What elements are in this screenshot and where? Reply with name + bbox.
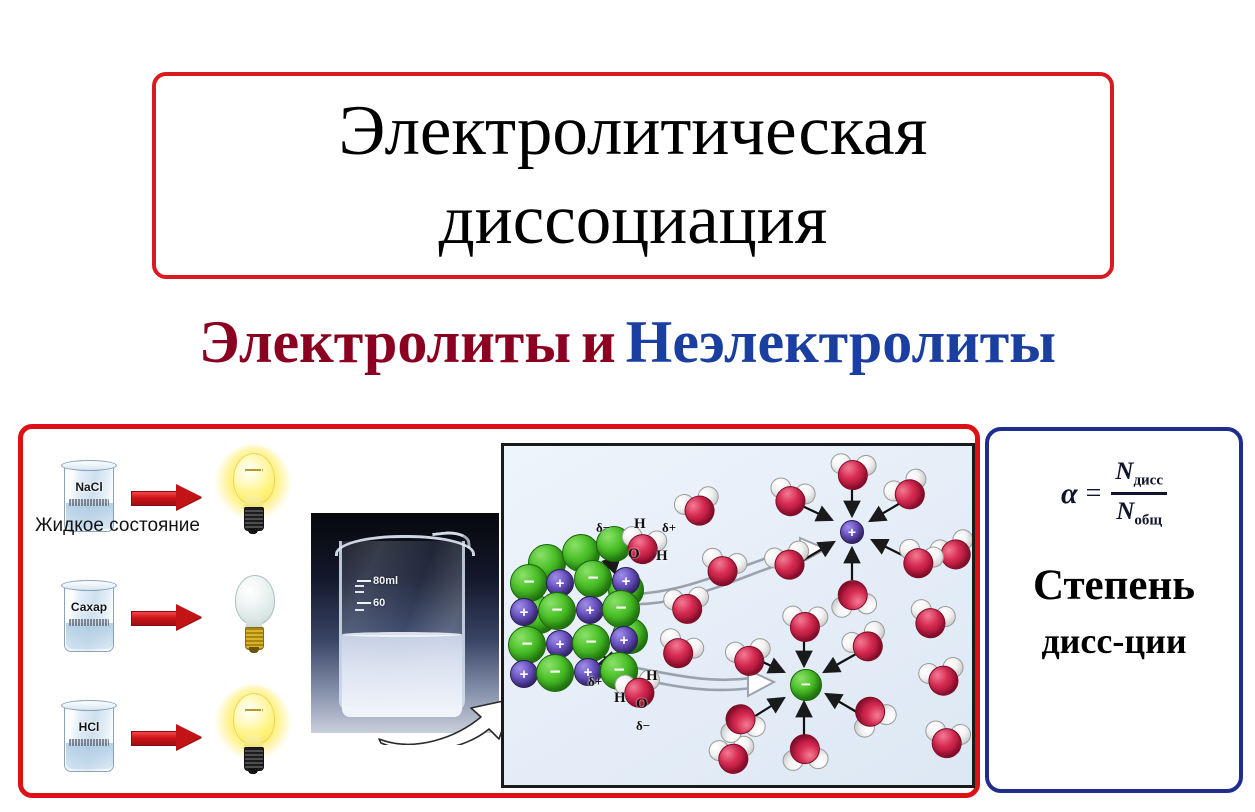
- beaker-rim: [61, 700, 117, 711]
- water-molecule-hydration-cation: [829, 453, 876, 494]
- degree-subtitle: дисс-ции: [1041, 623, 1186, 659]
- experiment-row-hcl: HCl: [61, 687, 311, 787]
- delta-plus-label-lower: δ+: [588, 674, 602, 690]
- lattice-ion-sodium: +: [576, 596, 604, 624]
- water-molecule-hydration-anion: [781, 605, 826, 645]
- red-arrow-icon: [131, 604, 203, 630]
- atom-label-o-lower: O: [636, 696, 648, 713]
- atom-label-h-lower: H: [646, 668, 658, 685]
- lattice-ion-chloride: −: [510, 564, 548, 602]
- lattice-ion-chloride: −: [508, 626, 546, 664]
- lattice-ion-chloride: −: [602, 590, 640, 628]
- page-title-line-2: диссоциация: [439, 185, 828, 256]
- delta-plus-label-upper: δ+: [662, 520, 676, 536]
- beaker-liquid: [66, 623, 113, 649]
- title-box: Электролитическая диссоциация: [152, 72, 1114, 279]
- formula-denominator-subscript: общ: [1134, 512, 1162, 528]
- lattice-ion-sodium: +: [510, 660, 538, 688]
- formula-equals-sign: =: [1086, 478, 1102, 510]
- bulb-tip: [249, 647, 259, 653]
- beaker-sublabel: [69, 619, 109, 626]
- beaker-label-sugar: Сахар: [61, 600, 117, 614]
- atom-label-h-upper-right: H: [656, 548, 668, 565]
- delta-minus-label-upper: δ−: [596, 520, 610, 536]
- graduation-tick: [355, 609, 364, 611]
- formula-denominator-variable: N: [1116, 498, 1134, 525]
- lattice-ion-chloride: −: [572, 624, 610, 662]
- beaker-label-nacl: NaCl: [61, 480, 117, 494]
- dissociation-diagram: − + − + + − + − − + − + + − + − H O H δ−…: [501, 443, 975, 788]
- lattice-ion-sodium: +: [610, 626, 638, 654]
- subtitle-electrolytes: Электролиты: [199, 309, 571, 375]
- light-bulb-unlit-sugar: [221, 569, 285, 665]
- water-molecule-hydration-cation: [830, 575, 879, 619]
- bulb-tip: [248, 528, 258, 534]
- beaker-sublabel: [69, 739, 109, 746]
- page-title-line-1: Электролитическая: [339, 96, 928, 167]
- beaker-label-hcl: HCl: [61, 720, 117, 734]
- bulb-tip: [248, 768, 258, 774]
- graduation-tick: [355, 585, 364, 587]
- beaker-hcl: HCl: [61, 698, 117, 776]
- formula-numerator: Nдисс: [1111, 457, 1167, 490]
- photo-beaker-spout: [432, 529, 471, 552]
- experiments-panel: NaCl Жидкое состояние Сахар: [18, 424, 980, 798]
- graduation-tick: [355, 591, 364, 593]
- red-arrow-icon: [131, 724, 203, 750]
- experiment-row-sugar: Сахар: [61, 567, 311, 667]
- beaker-sugar: Сахар: [61, 578, 117, 656]
- photo-beaker-meniscus: [342, 632, 462, 637]
- oxygen-atom: [789, 612, 820, 643]
- hydrated-anion: −: [790, 669, 822, 701]
- dissociation-degree-box: α = Nдисс Nобщ Степень дисс-ции: [985, 427, 1243, 793]
- beaker-photograph: 80ml 60: [311, 513, 499, 733]
- formula-fraction: Nдисс Nобщ: [1111, 457, 1167, 530]
- beaker-rim: [61, 580, 117, 591]
- graduation-label-60: 60: [373, 597, 385, 609]
- dissociation-degree-formula: α = Nдисс Nобщ: [1061, 457, 1167, 530]
- atom-label-h-upper: H: [634, 516, 646, 533]
- liquid-state-caption: Жидкое состояние: [35, 515, 200, 537]
- hydrated-cation: +: [840, 520, 864, 544]
- water-molecule-hydration-anion: [783, 731, 830, 772]
- subtitle: ЭлектролитыиНеэлектролиты: [0, 312, 1255, 372]
- delta-minus-label-lower: δ−: [636, 718, 650, 734]
- subtitle-nonelectrolytes: Неэлектролиты: [626, 309, 1056, 375]
- lattice-ion-chloride: −: [574, 560, 612, 598]
- atom-label-h-lower-left: H: [614, 690, 626, 707]
- fraction-bar: [1111, 492, 1167, 495]
- red-arrow-icon: [131, 484, 203, 510]
- formula-alpha-symbol: α: [1061, 477, 1078, 511]
- water-molecule-free: [662, 586, 710, 628]
- water-molecule-hydration-anion: [724, 637, 773, 681]
- formula-denominator: Nобщ: [1112, 497, 1166, 530]
- formula-numerator-subscript: дисс: [1133, 472, 1163, 488]
- lattice-ion-chloride: −: [536, 654, 574, 692]
- lattice-ion-chloride: −: [538, 592, 576, 630]
- beaker-liquid: [66, 743, 113, 769]
- degree-title: Степень: [1033, 564, 1195, 607]
- lattice-ion-sodium: +: [510, 598, 538, 626]
- subtitle-conjunction: и: [581, 309, 616, 375]
- light-bulb-lit-hcl: [221, 689, 285, 785]
- beaker-rim: [61, 460, 117, 471]
- graduation-label-80ml: 80ml: [373, 575, 398, 587]
- formula-numerator-variable: N: [1115, 458, 1133, 485]
- water-molecule-free: [922, 719, 971, 763]
- beaker-sublabel: [69, 499, 109, 506]
- atom-label-o-upper: O: [628, 546, 640, 563]
- photo-beaker-liquid: [342, 635, 462, 717]
- light-bulb-lit-nacl: [221, 449, 285, 545]
